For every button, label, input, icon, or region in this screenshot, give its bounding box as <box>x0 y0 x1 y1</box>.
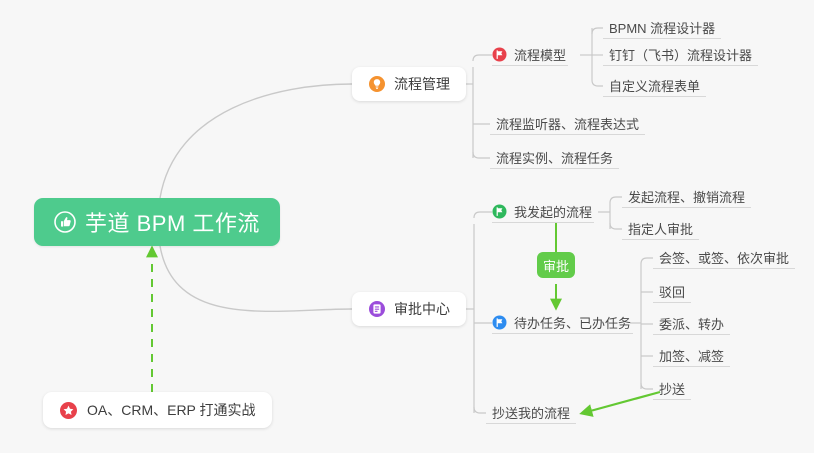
flag-blue-icon <box>492 315 507 330</box>
arrow-cc-to-ccme <box>583 392 660 413</box>
leaf-node-reject[interactable]: 驳回 <box>653 281 691 303</box>
link-started-leaf-2 <box>610 223 622 229</box>
link-root-to-approval-center <box>160 246 352 311</box>
topic-node-todo-done-tasks[interactable]: 待办任务、已办任务 <box>492 312 633 334</box>
star-icon <box>59 401 78 420</box>
leaf-label-delegate-transfer: 委派、转办 <box>659 314 724 333</box>
flag-green-icon <box>492 204 507 219</box>
clipboard-icon <box>368 300 386 318</box>
topic-label-todo-done-tasks: 待办任务、已办任务 <box>514 313 631 332</box>
branch-node-process-management[interactable]: 流程管理 <box>352 67 466 101</box>
link-todo-leaf-1 <box>641 258 653 264</box>
leaf-label-dingtalk-designer: 钉钉（飞书）流程设计器 <box>609 45 752 64</box>
root-node[interactable]: 芋道 BPM 工作流 <box>34 198 280 246</box>
topic-label-process-model: 流程模型 <box>514 45 566 64</box>
leaf-node-custom-form[interactable]: 自定义流程表单 <box>603 75 706 97</box>
leaf-label-bpmn-designer: BPMN 流程设计器 <box>609 18 715 37</box>
badge-label-approval: 审批 <box>543 256 569 275</box>
branch-node-approval-center[interactable]: 审批中心 <box>352 292 466 326</box>
leaf-node-cc[interactable]: 抄送 <box>653 378 691 400</box>
branch-label-process-management: 流程管理 <box>394 74 450 94</box>
link-pmodel-leaf-3 <box>592 80 603 86</box>
callout-node-integration[interactable]: OA、CRM、ERP 打通实战 <box>43 392 272 428</box>
leaf-node-add-remove-sign[interactable]: 加签、减签 <box>653 345 730 367</box>
callout-label-integration: OA、CRM、ERP 打通实战 <box>87 400 256 420</box>
topic-label-cc-to-me: 抄送我的流程 <box>492 403 570 422</box>
thumbs-up-icon <box>54 211 76 233</box>
root-label: 芋道 BPM 工作流 <box>85 206 260 238</box>
mindmap-canvas: 芋道 BPM 工作流 流程管理 流程模型 BPMN 流程设计器 钉钉（飞书 <box>0 0 814 453</box>
branch-label-approval-center: 审批中心 <box>394 299 450 319</box>
leaf-label-assignee-approval: 指定人审批 <box>628 219 693 238</box>
topic-node-process-listener[interactable]: 流程监听器、流程表达式 <box>490 113 645 135</box>
leaf-label-start-cancel-process: 发起流程、撤销流程 <box>628 187 745 206</box>
topic-label-process-instance: 流程实例、流程任务 <box>496 148 613 167</box>
leaf-node-countersign[interactable]: 会签、或签、依次审批 <box>653 247 795 269</box>
link-ac-to-ccme <box>474 407 486 413</box>
badge-node-approval[interactable]: 审批 <box>537 252 575 278</box>
leaf-node-delegate-transfer[interactable]: 委派、转办 <box>653 313 730 335</box>
topic-label-my-started-process: 我发起的流程 <box>514 202 592 221</box>
link-root-to-process-management <box>160 84 352 198</box>
lightbulb-icon <box>368 75 386 93</box>
topic-node-cc-to-me[interactable]: 抄送我的流程 <box>486 402 576 424</box>
link-pmodel-leaf-1 <box>592 28 603 34</box>
topic-node-process-instance[interactable]: 流程实例、流程任务 <box>490 147 619 169</box>
leaf-node-start-cancel-process[interactable]: 发起流程、撤销流程 <box>622 186 751 208</box>
leaf-label-countersign: 会签、或签、依次审批 <box>659 248 789 267</box>
link-started-leaf-1 <box>610 197 622 203</box>
topic-node-process-model[interactable]: 流程模型 <box>492 44 568 66</box>
link-todo-leaf-5 <box>641 383 653 389</box>
flag-red-icon <box>492 47 507 62</box>
link-pm-to-instance <box>473 152 490 158</box>
leaf-label-custom-form: 自定义流程表单 <box>609 76 700 95</box>
leaf-node-assignee-approval[interactable]: 指定人审批 <box>622 218 699 240</box>
leaf-label-cc: 抄送 <box>659 379 685 398</box>
leaf-label-add-remove-sign: 加签、减签 <box>659 346 724 365</box>
link-pm-to-process-model <box>473 55 492 61</box>
link-ac-to-my-started <box>474 212 492 218</box>
leaf-label-reject: 驳回 <box>659 282 685 301</box>
leaf-node-bpmn-designer[interactable]: BPMN 流程设计器 <box>603 17 721 39</box>
topic-label-process-listener: 流程监听器、流程表达式 <box>496 114 639 133</box>
leaf-node-dingtalk-designer[interactable]: 钉钉（飞书）流程设计器 <box>603 44 758 66</box>
topic-node-my-started-process[interactable]: 我发起的流程 <box>492 201 594 223</box>
